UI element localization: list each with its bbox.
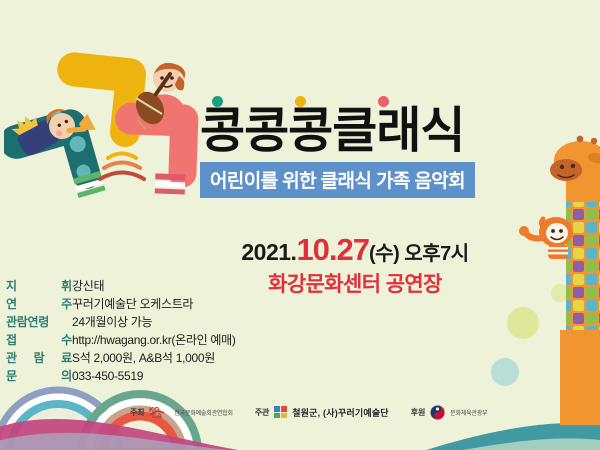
info-row: 관람료 S석 2,000원, A&B석 1,000원 (6, 349, 236, 367)
poster-canvas: 콩콩콩클래식 어린이를 위한 클래식 가족 음악회 2021.10.27(수) … (0, 0, 600, 450)
event-info-list: 지휘 강신태 연주 꾸러기예술단 오케스트라 관람연령 24개월이상 가능 접수… (6, 277, 236, 385)
sponsor-host: 주최 KO CA 한국문화예술회관연합회 (130, 404, 233, 420)
info-label-conductor: 지휘 (6, 277, 72, 294)
event-year: 2021. (241, 239, 296, 265)
info-row: 문의 033-450-5519 (6, 367, 236, 385)
sponsor-role-label: 주최 (130, 407, 144, 418)
title-block: 콩콩콩클래식 어린이를 위한 클래식 가족 음악회 (200, 96, 550, 198)
page-title: 콩콩콩클래식 (200, 107, 550, 157)
info-value-booking: http://hwagang.or.kr(온라인 예매) (72, 331, 236, 348)
monkey-illustration (519, 217, 573, 259)
sound-waves (100, 154, 144, 180)
sponsor-name: 문화체육관광부 (450, 408, 487, 417)
info-row: 연주 꾸러기예술단 오케스트라 (6, 295, 236, 313)
sponsor-name: 철원군, (사)꾸러기예술단 (292, 406, 389, 419)
info-value-performer: 꾸러기예술단 오케스트라 (72, 295, 193, 312)
info-label-price: 관람료 (6, 349, 72, 366)
title-dots (200, 96, 550, 109)
cheorwon-county-logo-icon (274, 406, 287, 418)
sponsor-role-label: 주관 (255, 407, 269, 418)
info-label-booking: 접수 (6, 331, 72, 348)
info-row: 관람연령 24개월이상 가능 (6, 313, 236, 331)
info-row: 접수 http://hwagang.or.kr(온라인 예매) (6, 331, 236, 349)
info-label-contact: 문의 (6, 367, 72, 384)
giraffe-illustration (550, 136, 600, 425)
sponsor-bar: 주최 KO CA 한국문화예술회관연합회 주관 철원군, (사)꾸러기예술단 후… (130, 404, 487, 420)
info-row: 지휘 강신태 (6, 277, 236, 295)
sponsor-name: 한국문화예술회관연합회 (174, 408, 233, 417)
taegeuk-government-logo-icon (430, 405, 445, 420)
info-value-price: S석 2,000원, A&B석 1,000원 (72, 349, 215, 366)
title-dot-1 (212, 96, 223, 107)
info-label-age: 관람연령 (6, 313, 72, 330)
korea-arts-council-logo-icon: KO CA (149, 404, 169, 420)
sponsor-support: 후원 문화체육관광부 (411, 405, 488, 420)
title-dot-2 (295, 96, 306, 107)
info-label-performer: 연주 (6, 295, 72, 312)
info-value-conductor: 강신태 (72, 277, 104, 294)
event-time: (수) 오후7시 (369, 243, 469, 265)
title-dot-3 (378, 96, 389, 107)
info-value-contact: 033-450-5519 (72, 369, 143, 383)
subtitle-banner: 어린이를 위한 클래식 가족 음악회 (200, 162, 475, 198)
event-date: 10.27 (296, 232, 369, 267)
sponsor-role-label: 후원 (411, 407, 425, 418)
svg-text:CA: CA (152, 413, 162, 420)
event-venue: 화강문화센터 공연장 (205, 268, 505, 298)
info-value-age: 24개월이상 가능 (72, 313, 152, 330)
sponsor-organizer: 주관 철원군, (사)꾸러기예술단 (255, 406, 389, 419)
kkk-logo-illustration (4, 52, 212, 212)
event-datetime: 2021.10.27(수) 오후7시 (205, 232, 505, 268)
